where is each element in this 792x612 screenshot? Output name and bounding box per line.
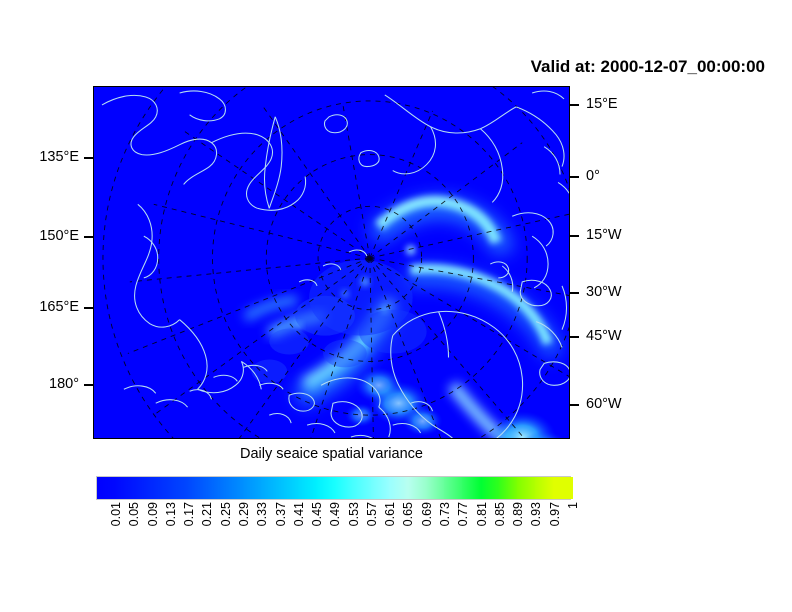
colorbar-segment [225, 477, 244, 499]
plot-caption: Daily seaice spatial variance [93, 446, 570, 462]
colorbar-segment [188, 477, 207, 499]
colorbar-tick-label: 0.89 [512, 502, 525, 526]
colorbar-tick-label: 0.45 [311, 502, 324, 526]
colorbar-segment [517, 477, 536, 499]
colorbar-segment [389, 477, 408, 499]
colorbar-segment [353, 477, 372, 499]
colorbar-segment [554, 477, 573, 499]
colorbar-tick-label: 0.93 [530, 502, 543, 526]
colorbar-tick-label: 0.05 [128, 502, 141, 526]
colorbar-segment [371, 477, 390, 499]
axis-tick-left [84, 307, 93, 309]
colorbar-tick-label: 0.37 [275, 502, 288, 526]
axis-label-right-45w: 45°W [586, 329, 622, 344]
axis-label-right-15w: 15°W [586, 228, 622, 243]
colorbar-tick-label: 0.29 [238, 502, 251, 526]
colorbar-tick-labels: 0.010.050.090.130.170.210.250.290.330.37… [96, 502, 571, 562]
colorbar-tick-label: 0.81 [476, 502, 489, 526]
colorbar-tick-label: 0.41 [293, 502, 306, 526]
axis-label-right-0: 0° [586, 169, 600, 184]
colorbar-tick-label: 0.25 [220, 502, 233, 526]
figure-canvas: Valid at: 2000-12-07_00:00:00 [0, 0, 792, 612]
map-plot-area [93, 86, 570, 439]
axis-label-left-180: 180° [49, 377, 79, 392]
colorbar-segment [97, 477, 116, 499]
axis-tick-right [570, 292, 579, 294]
axis-label-left-150e: 150°E [39, 229, 79, 244]
colorbar-tick-label: 0.85 [494, 502, 507, 526]
colorbar-segment [115, 477, 134, 499]
colorbar-segment [261, 477, 280, 499]
colorbar-segment [408, 477, 427, 499]
axis-tick-left [84, 384, 93, 386]
axis-tick-left [84, 157, 93, 159]
axis-tick-left [84, 236, 93, 238]
colorbar-tick-label: 0.73 [439, 502, 452, 526]
axis-label-left-165e: 165°E [39, 300, 79, 315]
colorbar-tick-label: 0.13 [165, 502, 178, 526]
axis-tick-right [570, 404, 579, 406]
colorbar-segment [535, 477, 554, 499]
colorbar-segment [316, 477, 335, 499]
page-title: Valid at: 2000-12-07_00:00:00 [380, 57, 765, 77]
axis-label-right-15e: 15°E [586, 97, 618, 112]
colorbar-tick-label: 0.65 [402, 502, 415, 526]
map-graphic [94, 87, 569, 438]
colorbar-segment [152, 477, 171, 499]
colorbar [96, 476, 571, 500]
colorbar-segment [426, 477, 445, 499]
colorbar-segment [207, 477, 226, 499]
colorbar-tick-label: 0.53 [348, 502, 361, 526]
colorbar-tick-label: 0.21 [201, 502, 214, 526]
colorbar-tick-label: 0.69 [421, 502, 434, 526]
colorbar-strip [96, 476, 571, 500]
colorbar-segment [335, 477, 354, 499]
colorbar-tick-label: 0.57 [366, 502, 379, 526]
colorbar-tick-label: 0.01 [110, 502, 123, 526]
colorbar-segment [170, 477, 189, 499]
colorbar-tick-label: 0.77 [457, 502, 470, 526]
axis-label-right-60w: 60°W [586, 397, 622, 412]
colorbar-tick-label: 0.61 [384, 502, 397, 526]
colorbar-segment [462, 477, 481, 499]
colorbar-segment [243, 477, 262, 499]
colorbar-tick-label: 0.09 [147, 502, 160, 526]
colorbar-tick-label: 0.17 [183, 502, 196, 526]
axis-tick-right [570, 104, 579, 106]
axis-tick-right [570, 336, 579, 338]
colorbar-tick-label: 0.97 [549, 502, 562, 526]
axis-tick-right [570, 235, 579, 237]
colorbar-tick-label: 0.49 [329, 502, 342, 526]
colorbar-segment [444, 477, 463, 499]
colorbar-segment [134, 477, 153, 499]
axis-label-right-30w: 30°W [586, 285, 622, 300]
colorbar-segment [298, 477, 317, 499]
colorbar-segment [499, 477, 518, 499]
axis-tick-right [570, 176, 579, 178]
colorbar-tick-label: 0.33 [256, 502, 269, 526]
axis-label-left-135e: 135°E [39, 150, 79, 165]
colorbar-segment [481, 477, 500, 499]
colorbar-segment [280, 477, 299, 499]
colorbar-tick-label: 1 [567, 502, 580, 509]
